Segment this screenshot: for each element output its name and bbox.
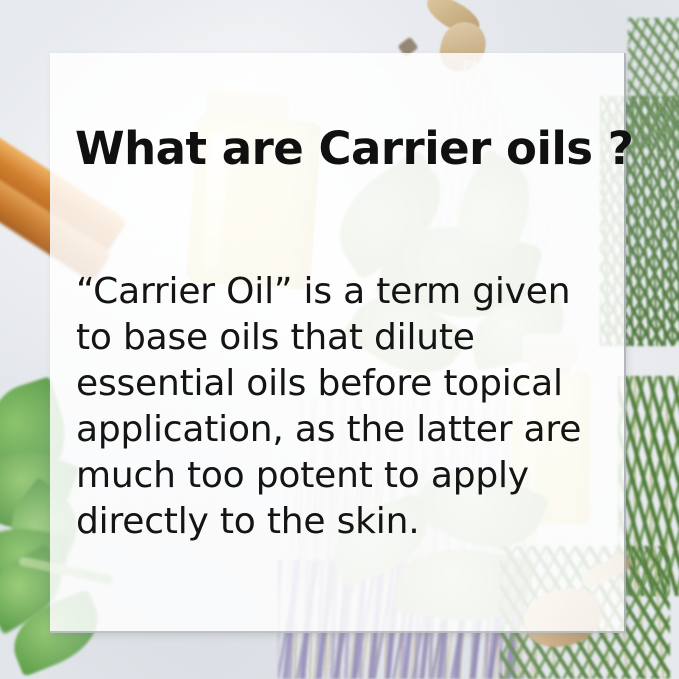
thyme-sprig-icon: [618, 376, 679, 596]
infographic-image: What are Carrier oils ? “Carrier Oil” is…: [0, 0, 679, 679]
body-line: to base oils that dilute: [76, 315, 612, 361]
body-line: application, as the latter are: [76, 407, 612, 453]
body-line: directly to the skin.: [76, 499, 612, 545]
body-paragraph: “Carrier Oil” is a term given to base oi…: [76, 269, 612, 545]
text-overlay-content: What are Carrier oils ? “Carrier Oil” is…: [50, 53, 624, 631]
body-line: much too potent to apply: [76, 453, 612, 499]
page-title: What are Carrier oils ?: [75, 125, 633, 172]
text-overlay-card: What are Carrier oils ? “Carrier Oil” is…: [50, 53, 626, 633]
body-line: essential oils before topical: [76, 361, 612, 407]
twine-knot-icon: [421, 0, 484, 40]
rosemary-sprig-icon: [628, 18, 679, 148]
body-line: “Carrier Oil” is a term given: [76, 269, 612, 315]
